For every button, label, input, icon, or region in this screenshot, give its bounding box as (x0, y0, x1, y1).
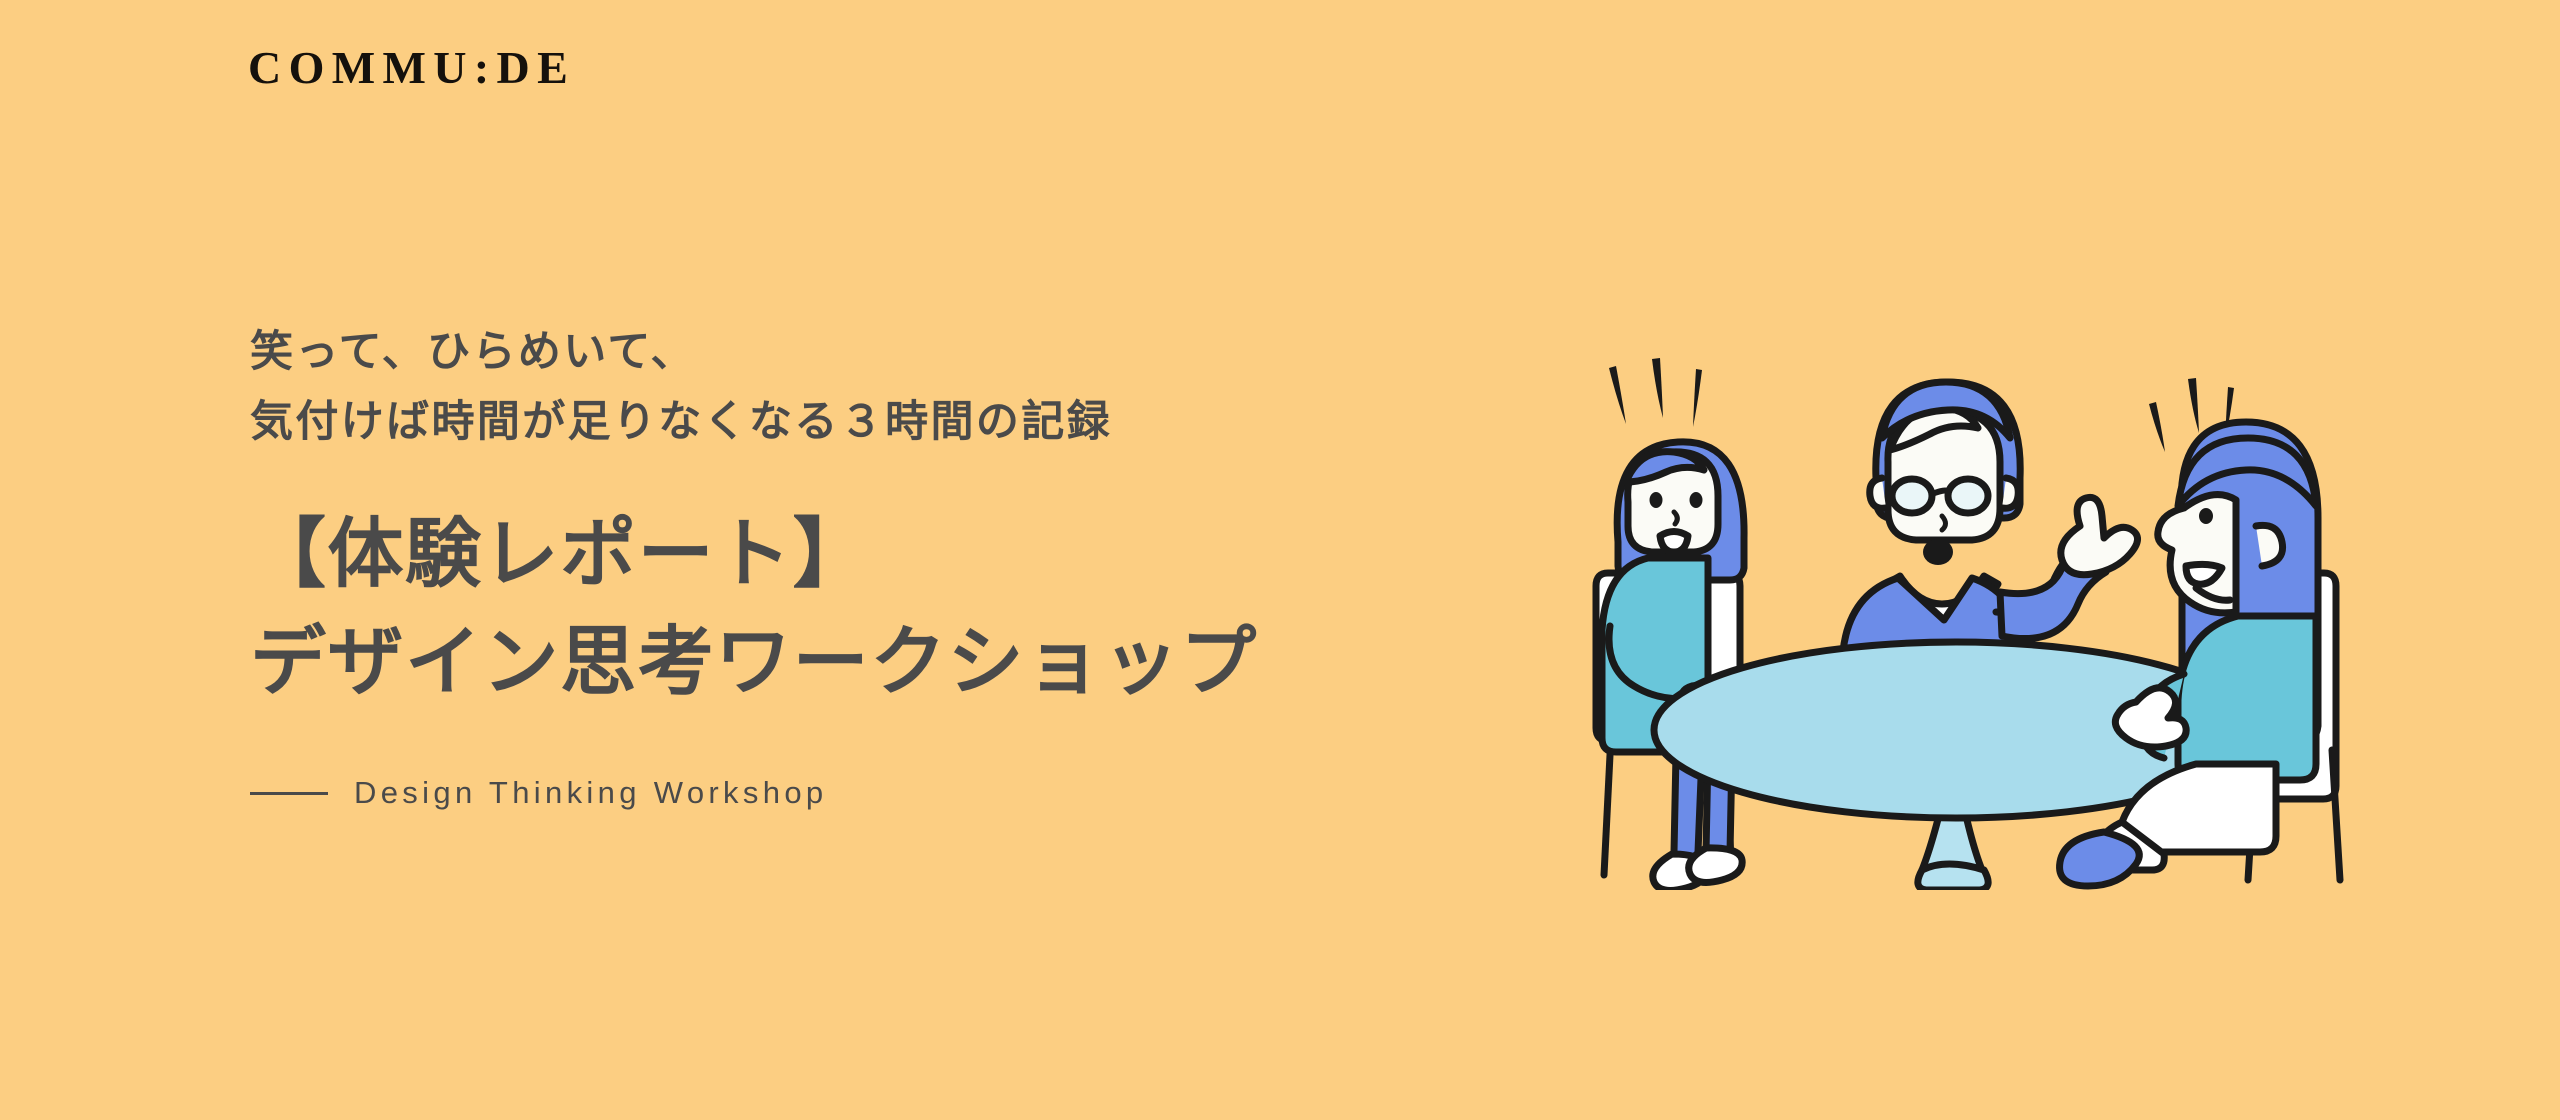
hero-banner: COMMU:DE 笑って、ひらめいて、 気付けば時間が足りなくなる３時間の記録 … (0, 0, 2560, 1120)
hero-subtitle: Design Thinking Workshop (354, 775, 827, 811)
hero-subtitle-row: Design Thinking Workshop (250, 775, 1570, 811)
hero-title-line-1: 【体験レポート】 (250, 501, 1570, 609)
three-people-at-table-illustration (1556, 330, 2456, 890)
hero-lead-line-2: 気付けば時間が足りなくなる３時間の記録 (250, 388, 1570, 458)
hero-copy-block: 笑って、ひらめいて、 気付けば時間が足りなくなる３時間の記録 【体験レポート】 … (250, 318, 1570, 811)
hero-title-line-2: デザイン思考ワークショップ (250, 609, 1570, 717)
site-logo[interactable]: COMMU:DE (248, 45, 575, 91)
hero-lead-line-1: 笑って、ひらめいて、 (250, 318, 1570, 388)
excitement-marks-left-icon (1609, 358, 1702, 427)
hero-illustration (1556, 330, 2456, 890)
horizontal-rule-icon (250, 792, 328, 795)
